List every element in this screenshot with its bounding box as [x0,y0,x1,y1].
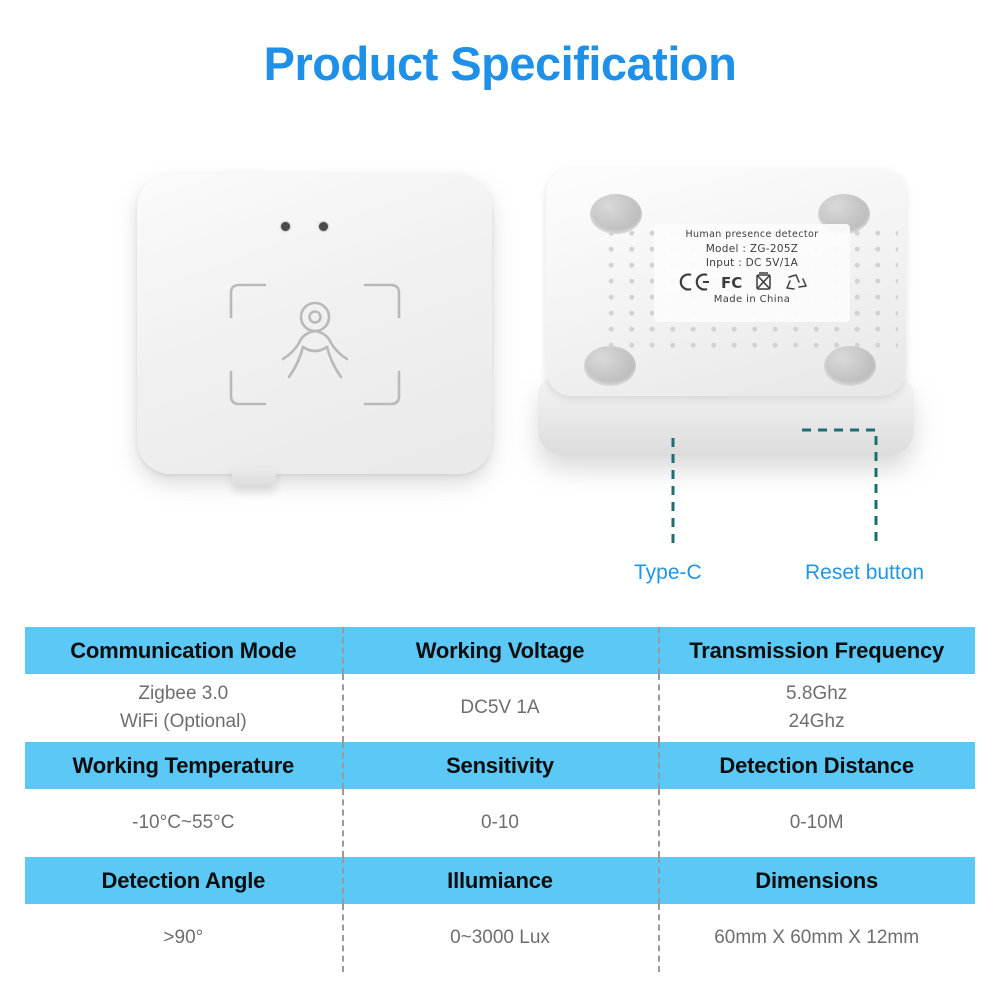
table-value-cell: 5.8Ghz24Ghz [658,674,975,742]
table-value-cell: -10°C~55°C [25,789,342,857]
callout-leader-lines [0,150,1000,610]
table-value-row: Zigbee 3.0WiFi (Optional) DC5V 1A 5.8Ghz… [25,674,975,742]
table-header-cell: Detection Angle [25,857,342,904]
table-value-cell: >90° [25,904,342,972]
product-images: Human presence detector Model : ZG-205Z … [0,150,1000,610]
table-value-row: >90° 0~3000 Lux 60mm X 60mm X 12mm [25,904,975,972]
page-title: Product Specification [0,36,1000,91]
callout-reset-button: Reset button [805,561,924,585]
callout-type-c: Type-C [634,561,702,585]
table-value-cell: 0~3000 Lux [342,904,659,972]
table-value-cell: 0-10M [658,789,975,857]
table-header-cell: Communication Mode [25,627,342,674]
table-header-row: Detection Angle Illumiance Dimensions [25,857,975,904]
table-header-cell: Working Voltage [342,627,659,674]
specification-table: Communication Mode Working Voltage Trans… [25,627,975,972]
table-value-cell: 60mm X 60mm X 12mm [658,904,975,972]
table-header-cell: Detection Distance [658,742,975,789]
table-header-cell: Transmission Frequency [658,627,975,674]
table-header-cell: Illumiance [342,857,659,904]
table-header-row: Communication Mode Working Voltage Trans… [25,627,975,674]
table-value-cell: 0-10 [342,789,659,857]
table-value-cell: DC5V 1A [342,674,659,742]
table-header-row: Working Temperature Sensitivity Detectio… [25,742,975,789]
table-header-cell: Dimensions [658,857,975,904]
table-header-cell: Working Temperature [25,742,342,789]
table-value-row: -10°C~55°C 0-10 0-10M [25,789,975,857]
table-value-cell: Zigbee 3.0WiFi (Optional) [25,674,342,742]
table-header-cell: Sensitivity [342,742,659,789]
